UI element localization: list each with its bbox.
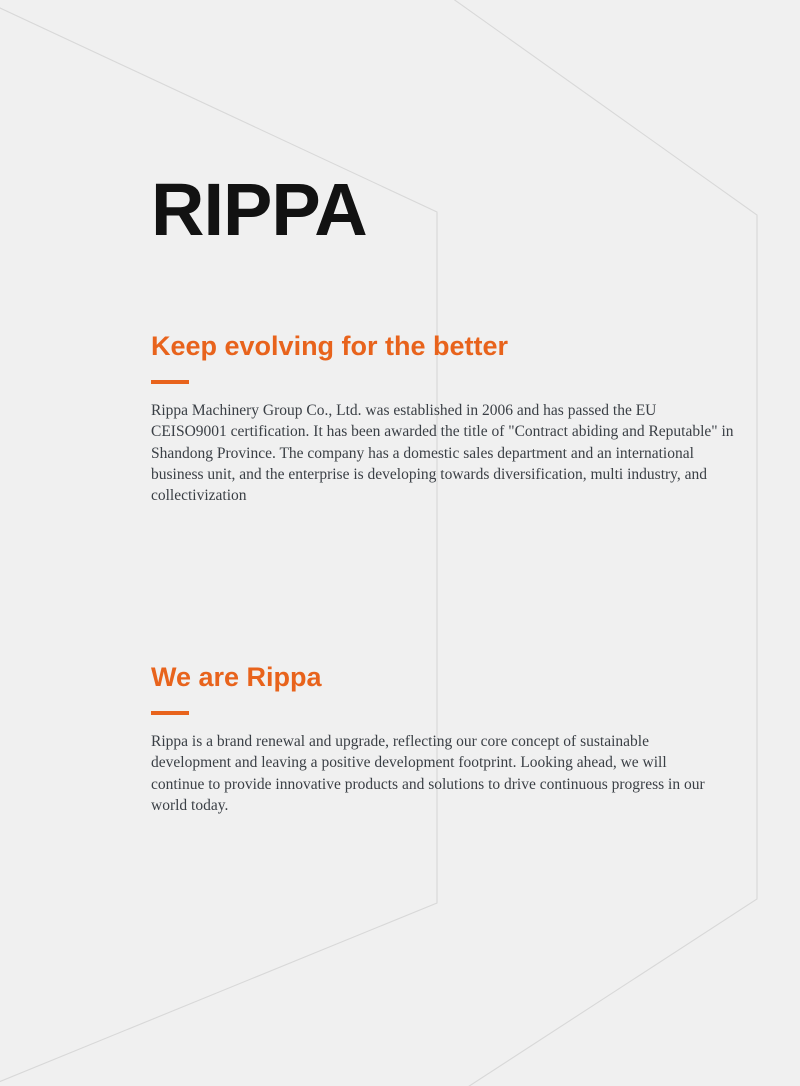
section-we-are-rippa: We are Rippa Rippa is a brand renewal an… bbox=[151, 661, 751, 816]
brand-about-page: RIPPA Keep evolving for the better Rippa… bbox=[0, 0, 800, 1086]
section-keep-evolving: Keep evolving for the better Rippa Machi… bbox=[151, 330, 751, 506]
hexagon-outline-right bbox=[300, 0, 757, 1086]
section-heading: Keep evolving for the better bbox=[151, 330, 751, 362]
section-body-text: Rippa Machinery Group Co., Ltd. was esta… bbox=[151, 384, 736, 506]
section-body-text: Rippa is a brand renewal and upgrade, re… bbox=[151, 715, 711, 816]
brand-wordmark: RIPPA bbox=[151, 172, 367, 248]
hexagon-outline-left bbox=[0, 0, 437, 1086]
background-hexagon-decoration bbox=[0, 0, 800, 1086]
section-heading: We are Rippa bbox=[151, 661, 751, 693]
